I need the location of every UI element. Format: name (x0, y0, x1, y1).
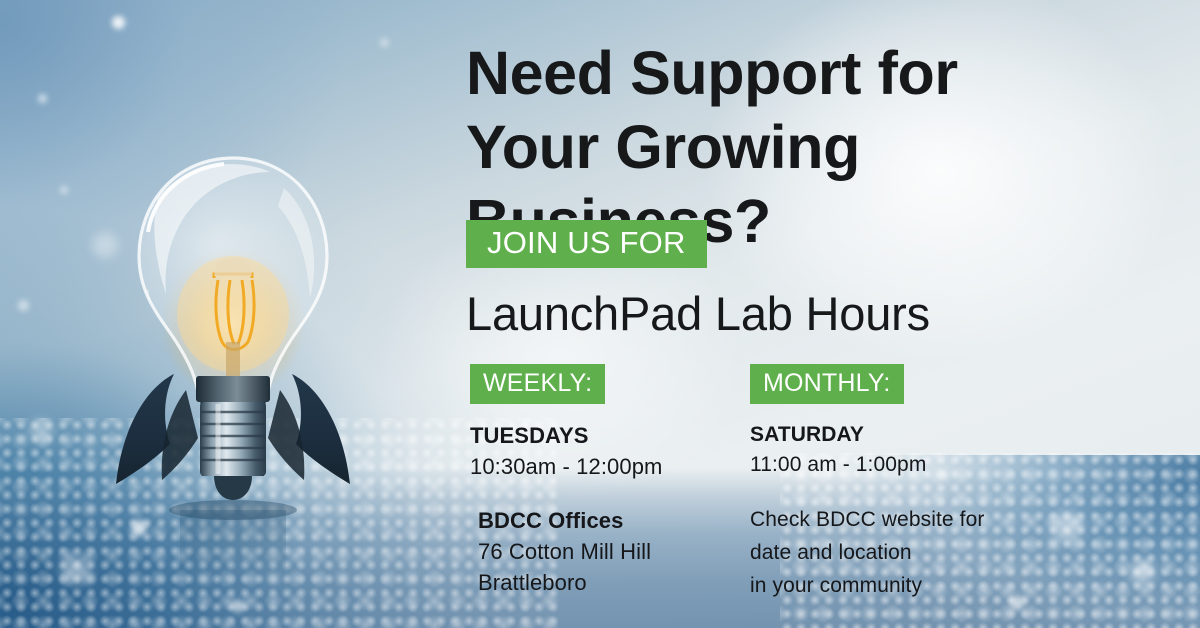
bokeh-dot (18, 300, 29, 311)
monthly-time: 11:00 am - 1:00pm (750, 450, 1050, 480)
event-title: LaunchPad Lab Hours (466, 285, 930, 343)
bokeh-dot (62, 556, 90, 584)
bokeh-dot (30, 420, 52, 442)
weekly-badge: WEEKLY: (470, 364, 605, 404)
weekly-day: TUESDAYS (470, 420, 740, 451)
headline-line-1: Need Support for (466, 39, 958, 107)
monthly-day: SATURDAY (750, 420, 1050, 450)
bokeh-dot (112, 16, 125, 29)
weekly-location: BDCC Offices 76 Cotton Mill Hill Brattle… (470, 505, 740, 598)
weekly-schedule: TUESDAYS 10:30am - 12:00pm BDCC Offices … (470, 420, 740, 598)
text-content: Need Support for Your Growing Business? … (466, 0, 1200, 628)
bulb-tip (214, 476, 252, 500)
bokeh-dot (380, 38, 389, 47)
bulb-screw-base (200, 402, 266, 476)
promo-poster: Need Support for Your Growing Business? … (0, 0, 1200, 628)
bulb-collar (196, 376, 270, 402)
bokeh-dot (38, 94, 47, 103)
lightbulb-rocket-image (88, 128, 378, 608)
monthly-note-line-3: in your community (750, 569, 1050, 602)
monthly-column: MONTHLY: SATURDAY 11:00 am - 1:00pm Chec… (750, 364, 1050, 602)
weekly-city: Brattleboro (478, 567, 740, 598)
monthly-note: Check BDCC website for date and location… (750, 503, 1050, 602)
monthly-note-line-1: Check BDCC website for (750, 503, 1050, 536)
weekly-time: 10:30am - 12:00pm (470, 451, 740, 482)
weekly-column: WEEKLY: TUESDAYS 10:30am - 12:00pm BDCC … (470, 364, 740, 598)
monthly-note-line-2: date and location (750, 536, 1050, 569)
monthly-badge: MONTHLY: (750, 364, 904, 404)
weekly-venue: BDCC Offices (478, 505, 740, 536)
weekly-address: 76 Cotton Mill Hill (478, 536, 740, 567)
join-us-badge: JOIN US FOR (466, 220, 707, 268)
bokeh-dot (60, 186, 68, 194)
monthly-schedule: SATURDAY 11:00 am - 1:00pm Check BDCC we… (750, 420, 1050, 602)
